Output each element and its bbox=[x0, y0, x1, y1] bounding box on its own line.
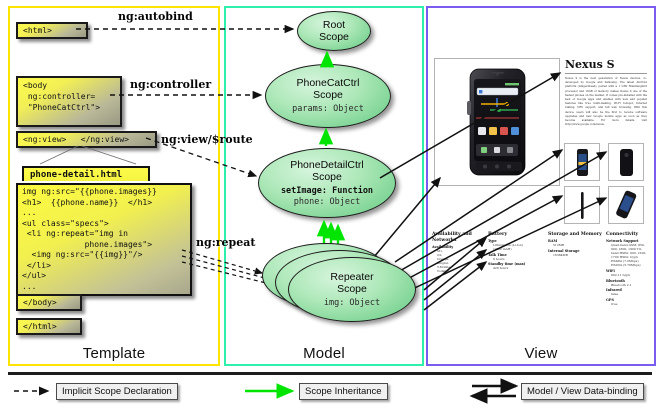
scope-repeater: Repeater Scope img: Object bbox=[288, 257, 416, 322]
scope-phonecatctrl-line2: Scope bbox=[313, 89, 343, 101]
scope-phonedetailctrl-line2: Scope bbox=[312, 171, 342, 183]
spec-column-0: Availability and Networks Availability M… bbox=[432, 232, 486, 273]
spec-column-2: Storage and Memory RAM 512MB Internal St… bbox=[548, 232, 604, 257]
product-blurb: Nexus S is the next generation of Nexus … bbox=[565, 77, 647, 137]
code-box-body-close: </body> bbox=[16, 294, 82, 311]
edge-label-controller: ng:controller bbox=[130, 78, 211, 91]
scope-root-line2: Scope bbox=[319, 31, 349, 43]
edge-label-view-route: ng:view/$route bbox=[161, 133, 253, 146]
spec-column-0-header-l2: Networks bbox=[432, 238, 456, 243]
spec-3-val-5: HSUPA (5.76Mbps) bbox=[611, 263, 652, 267]
code-box-body-open: <body ng:controller= "PhoneCatCtrl"> bbox=[16, 76, 122, 127]
legend-item-implicit-scope-declaration: Implicit Scope Declaration bbox=[56, 383, 178, 400]
scope-phonedetailctrl-prop-phone: phone: Object bbox=[294, 197, 361, 207]
angular-scope-diagram: Template Model View <html> <body ng:cont… bbox=[0, 0, 660, 420]
spec-column-3: Connectivity Network Support Quad-band G… bbox=[606, 232, 652, 306]
panel-template-label: Template bbox=[10, 345, 218, 362]
spec-column-0-header-l1: Availability and bbox=[432, 232, 472, 237]
note-code-phone-detail: img ng:src="{{phone.images}} <h1> {{phon… bbox=[16, 183, 192, 296]
scope-phonedetailctrl-prop-setimage: setImage: Function bbox=[281, 186, 373, 196]
legend-double-arrow-icon bbox=[472, 386, 516, 396]
scope-phonecatctrl: PhoneCatCtrl Scope params: Object bbox=[265, 64, 391, 128]
title-rule bbox=[565, 73, 647, 74]
product-title: Nexus S bbox=[565, 58, 615, 71]
spec-3-val-7: Bluetooth 2.1 bbox=[611, 283, 652, 287]
panel-model-label: Model bbox=[226, 345, 422, 362]
scope-repeater-props: img: Object bbox=[324, 298, 380, 309]
spec-1-val-3: 428 hours bbox=[493, 266, 544, 270]
spec-1-val-1: (1500 mAH) bbox=[493, 247, 544, 251]
edge-label-autobind: ng:autobind bbox=[118, 10, 193, 23]
spec-3-val-9: true bbox=[611, 302, 652, 306]
thumbnail-2[interactable] bbox=[564, 186, 600, 224]
thumbnail-1[interactable] bbox=[608, 143, 644, 181]
legend-divider bbox=[8, 372, 652, 375]
panel-view-label: View bbox=[428, 345, 654, 362]
spec-3-val-8: false bbox=[611, 292, 652, 296]
scope-phonecatctrl-props: params: Object bbox=[292, 104, 364, 115]
code-box-html-close: </html> bbox=[16, 318, 82, 335]
phone-hero-image bbox=[435, 59, 559, 185]
spec-2-val-0: 512MB bbox=[553, 243, 604, 247]
spec-2-val-1: 16384MB bbox=[553, 253, 604, 257]
scope-root-line1: Root bbox=[323, 19, 345, 31]
spec-column-1-header: Battery bbox=[488, 232, 544, 238]
edge-label-repeat: ng:repeat bbox=[196, 236, 255, 249]
note-title-phone-detail: phone-detail.html bbox=[22, 166, 150, 181]
spec-0-val-5: Vodafone bbox=[437, 269, 486, 273]
code-box-ngview: <ng:view> </ng:view> bbox=[16, 131, 157, 148]
scope-phonedetailctrl-line1: PhoneDetailCtrl bbox=[290, 159, 364, 171]
spec-column-1: Battery Type Lithium Ion (Li-Ion) (1500 … bbox=[488, 232, 544, 270]
scope-repeater-line2: Scope bbox=[337, 283, 367, 295]
legend-item-scope-inheritance: Scope Inheritance bbox=[299, 383, 388, 400]
thumbnail-0[interactable] bbox=[564, 143, 600, 181]
thumbnail-3[interactable] bbox=[608, 186, 644, 224]
code-box-html-open: <html> bbox=[16, 22, 88, 39]
phone-hero-frame bbox=[434, 58, 560, 186]
spec-3-val-6: 802.11 b/g/n bbox=[611, 273, 652, 277]
scope-phonedetailctrl: PhoneDetailCtrl Scope setImage: Function… bbox=[258, 148, 396, 218]
spec-column-3-header: Connectivity bbox=[606, 232, 652, 238]
spec-column-2-header: Storage and Memory bbox=[548, 232, 604, 238]
spec-1-val-2: 6 hours bbox=[493, 257, 544, 261]
scope-repeater-line1: Repeater bbox=[330, 271, 373, 283]
scope-phonecatctrl-line1: PhoneCatCtrl bbox=[296, 77, 359, 89]
scope-root: Root Scope bbox=[297, 11, 371, 51]
legend-item-model-view-data-binding: Model / View Data-binding bbox=[521, 383, 644, 400]
